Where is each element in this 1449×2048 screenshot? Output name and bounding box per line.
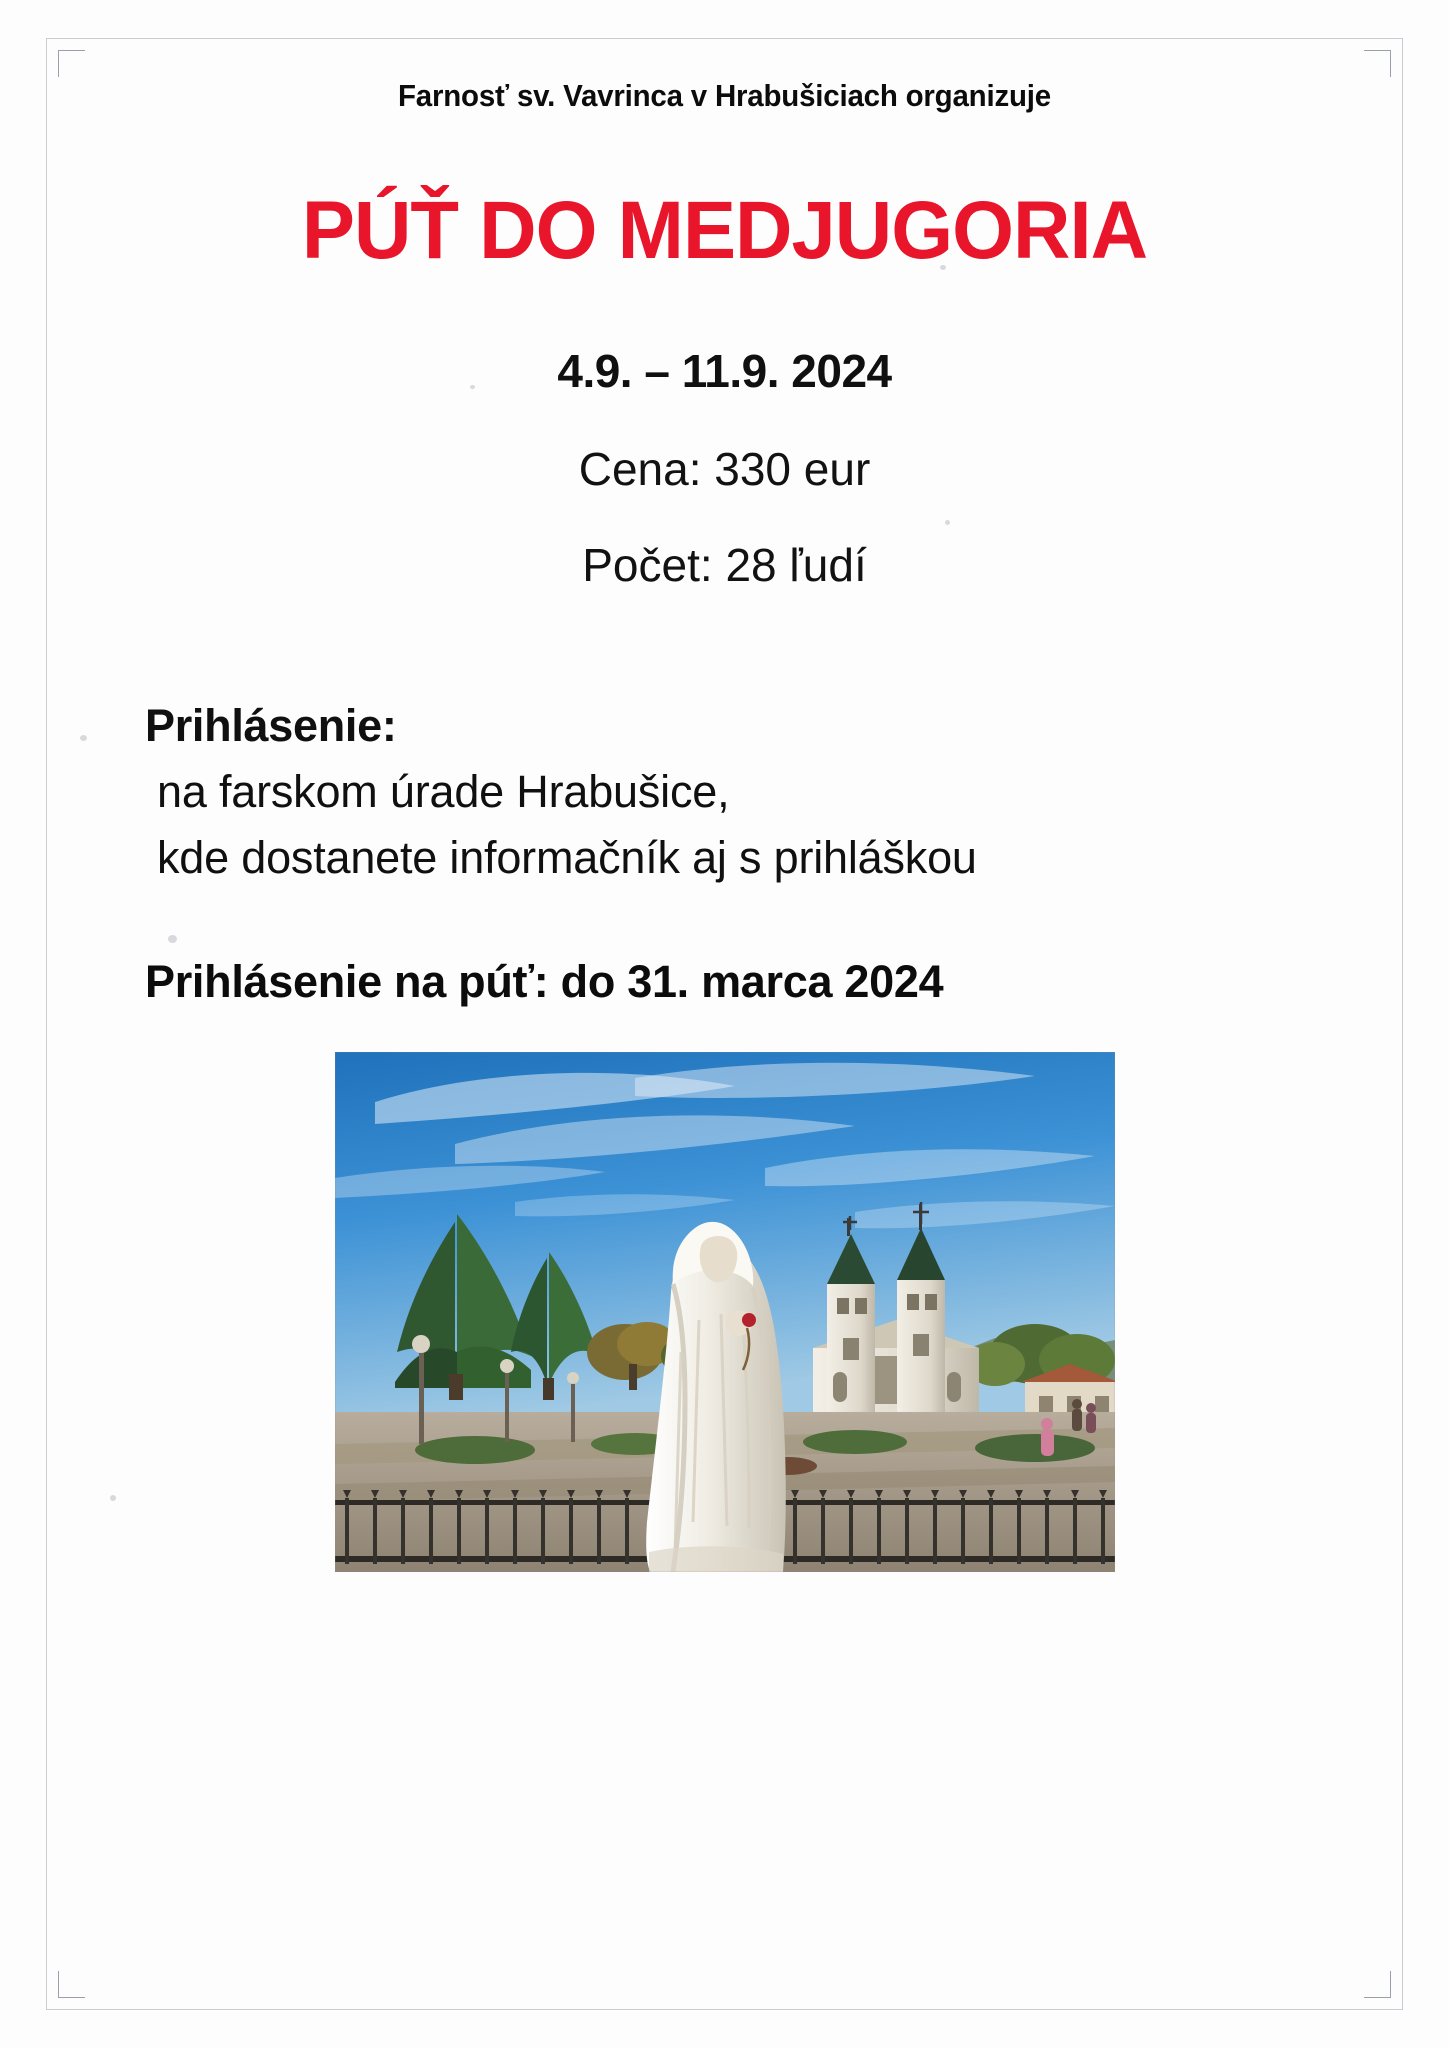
photo-container [0, 1052, 1449, 1572]
page-title: PÚŤ DO MEDJUGORIA [22, 190, 1428, 272]
deadline-line: Prihlásenie na púť: do 31. marca 2024 [0, 956, 1449, 1008]
medjugorje-photo [335, 1052, 1115, 1572]
capacity-line: Počet: 28 ľudí [0, 538, 1449, 592]
signup-heading: Prihlásenie: [145, 700, 1449, 752]
crop-mark-bottom-right [1364, 1971, 1391, 1998]
organizer-line: Farnosť sv. Vavrinca v Hrabušiciach orga… [36, 78, 1413, 114]
rose-in-hand [742, 1313, 756, 1327]
signup-location-line: na farskom úrade Hrabušice, [145, 766, 1449, 818]
signup-block: Prihlásenie: na farskom úrade Hrabušice,… [0, 700, 1449, 884]
hedge-left [415, 1436, 535, 1464]
signup-info-line: kde dostanete informačník aj s prihláško… [145, 832, 1449, 884]
price-line: Cena: 330 eur [0, 442, 1449, 496]
poster-page: Farnosť sv. Vavrinca v Hrabušiciach orga… [0, 0, 1449, 2048]
poster-content: Farnosť sv. Vavrinca v Hrabušiciach orga… [0, 0, 1449, 1572]
date-range: 4.9. – 11.9. 2024 [0, 344, 1449, 398]
crop-mark-bottom-left [58, 1971, 85, 1998]
hedge-right [975, 1434, 1095, 1462]
